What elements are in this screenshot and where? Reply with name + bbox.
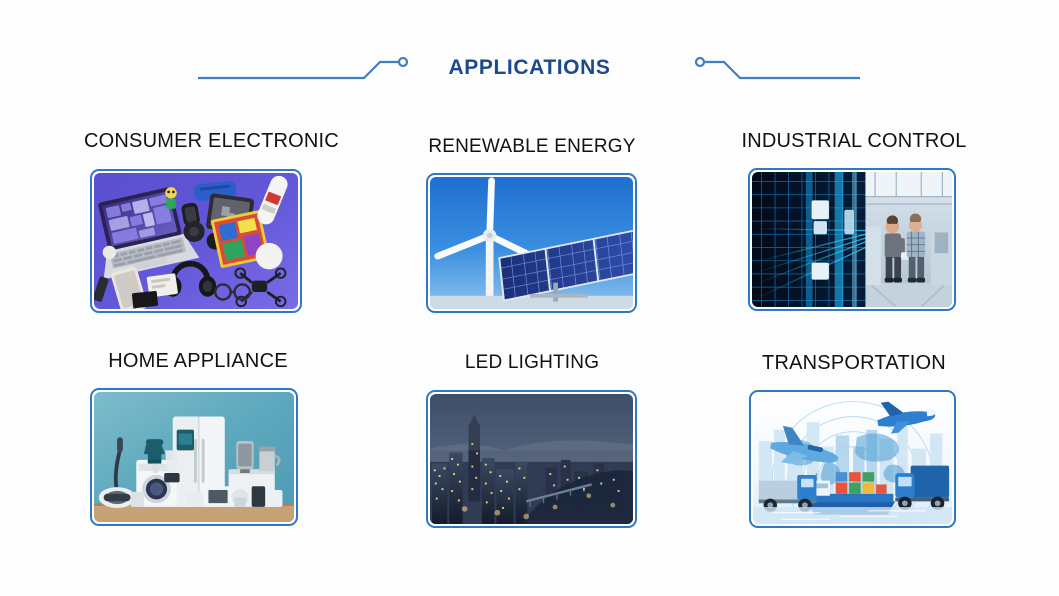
card-label: HOME APPLIANCE: [84, 350, 312, 373]
applications-page: APPLICATIONS CONSUMER ELECTRONIC: [0, 0, 1059, 596]
application-card-home-appliance[interactable]: HOME APPLIANCE: [84, 340, 312, 540]
application-card-led-lighting[interactable]: LED LIGHTING: [420, 340, 644, 540]
card-thumbnail[interactable]: [426, 390, 637, 528]
card-label: CONSUMER ELECTRONIC: [84, 130, 308, 153]
card-label: LED LIGHTING: [420, 352, 644, 374]
card-thumbnail[interactable]: [90, 169, 302, 313]
page-header: APPLICATIONS: [0, 44, 1059, 92]
application-card-consumer-electronic[interactable]: CONSUMER ELECTRONIC: [84, 120, 308, 320]
renewable-energy-image: [430, 177, 633, 309]
card-label: RENEWABLE ENERGY: [420, 136, 644, 158]
application-card-renewable-energy[interactable]: RENEWABLE ENERGY: [420, 120, 644, 320]
application-card-transportation[interactable]: TRANSPORTATION: [740, 340, 968, 540]
industrial-control-image: [752, 172, 952, 307]
card-thumbnail[interactable]: [426, 173, 637, 313]
consumer-electronics-flatlay-image: [94, 173, 298, 309]
led-lighting-cityscape-image: [430, 394, 633, 524]
card-label: TRANSPORTATION: [740, 352, 968, 375]
card-thumbnail[interactable]: [90, 388, 298, 526]
card-thumbnail[interactable]: [749, 390, 956, 528]
page-title: APPLICATIONS: [0, 44, 1059, 92]
card-label: INDUSTRIAL CONTROL: [740, 130, 968, 153]
card-thumbnail[interactable]: [748, 168, 956, 311]
home-appliance-image: [94, 392, 294, 522]
application-card-industrial-control[interactable]: INDUSTRIAL CONTROL: [740, 120, 968, 320]
transportation-logistics-image: [753, 394, 952, 524]
